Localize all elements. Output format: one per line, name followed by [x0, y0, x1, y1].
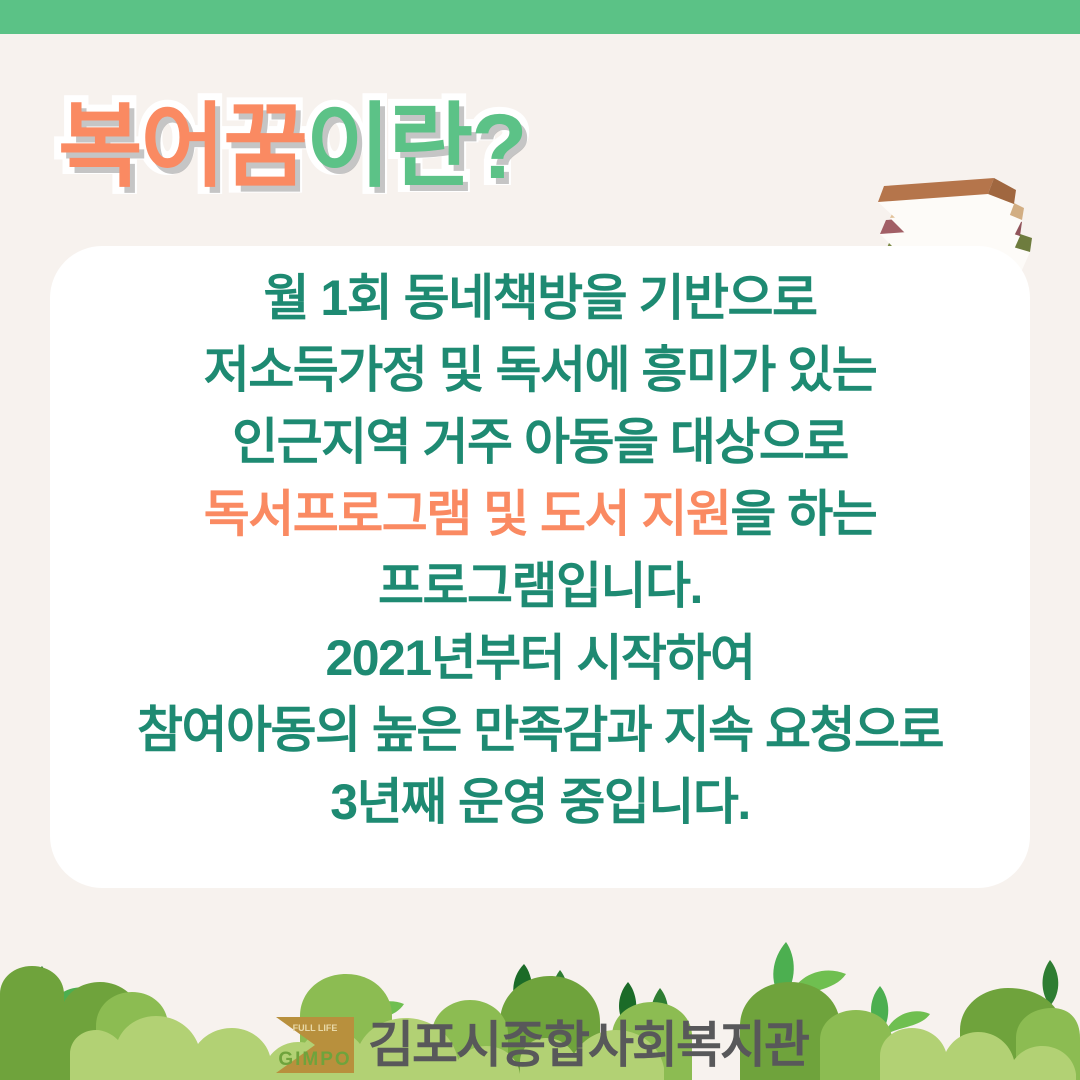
body-line: 인근지역 거주 아동을 대상으로: [60, 406, 1020, 478]
body-line: 월 1회 동네책방을 기반으로: [60, 262, 1020, 334]
organization-name: 김포시종합사회복지관: [368, 1017, 808, 1073]
footer-brand: FULL LIFE GIMPO 김포시종합사회복지관: [272, 1014, 808, 1076]
body-line: 프로그램입니다.: [60, 550, 1020, 622]
body-line: 참여아동의 높은 만족감과 지속 요청으로: [60, 694, 1020, 766]
body-copy: 월 1회 동네책방을 기반으로 저소득가정 및 독서에 흥미가 있는 인근지역 …: [60, 262, 1020, 838]
body-line: 저소득가정 및 독서에 흥미가 있는: [60, 334, 1020, 406]
logo-top-text: FULL LIFE: [293, 1023, 338, 1033]
highlight-phrase: 독서프로그램 및 도서 지원: [204, 486, 731, 542]
top-accent-bar: [0, 0, 1080, 34]
logo-wordmark: GIMPO: [278, 1049, 351, 1070]
title-green-part: 이란?: [306, 96, 525, 198]
body-line: 3년째 운영 중입니다.: [60, 766, 1020, 838]
poster-canvas: 복어꿈이란? 월 1회 동네: [0, 0, 1080, 1080]
page-title: 복어꿈이란?: [58, 92, 758, 202]
body-line-highlighted: 독서프로그램 및 도서 지원을 하는: [60, 478, 1020, 550]
title-orange-part: 복어꿈: [58, 96, 306, 198]
gimpo-logo-icon: FULL LIFE GIMPO: [272, 1015, 358, 1075]
body-line: 2021년부터 시작하여: [60, 622, 1020, 694]
